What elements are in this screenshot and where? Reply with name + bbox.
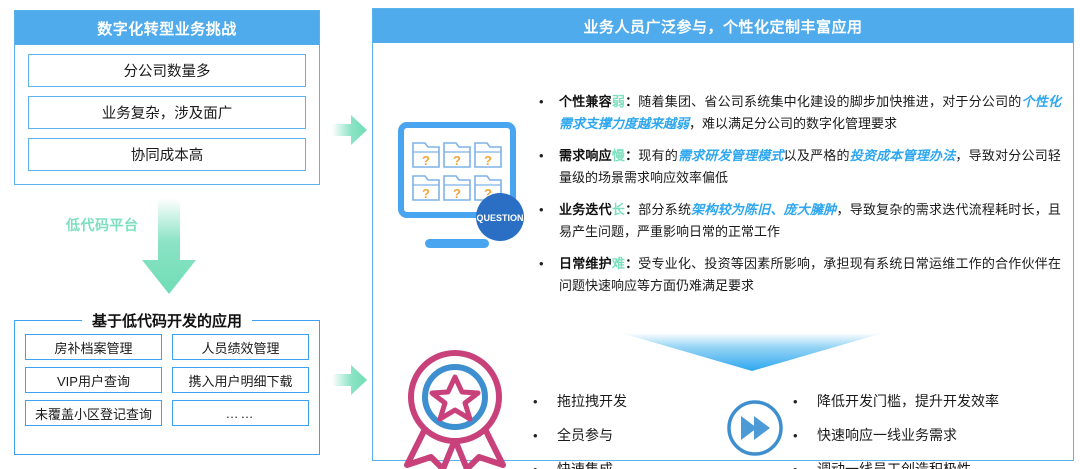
lowcode-platform-label: 低代码平台 bbox=[66, 215, 139, 235]
benefit-item: • 拖拉拽开发 bbox=[533, 391, 713, 411]
issue-emphasis-1: 需求研发管理模式 bbox=[678, 148, 784, 163]
monitor-question-icon: ??? ??? QUESTION bbox=[397, 121, 529, 271]
fast-forward-icon bbox=[725, 398, 785, 458]
svg-text:?: ? bbox=[453, 186, 461, 201]
issue-lead-highlight: 长 bbox=[612, 202, 625, 217]
issue-colon: ： bbox=[625, 256, 638, 271]
issue-lead: 个性兼容 bbox=[559, 94, 612, 109]
bullet-marker: • bbox=[533, 394, 557, 409]
benefit-item: • 调动一线员工创造积极性 bbox=[793, 459, 1063, 469]
left-column: 数字化转型业务挑战 分公司数量多 业务复杂，涉及面广 协同成本高 低代码平台 bbox=[0, 0, 368, 469]
issue-bullet: • 需求响应慢：现有的需求研发管理模式以及严格的投资成本管理办法，导致对分公司轻… bbox=[533, 145, 1061, 188]
apps-panel: 基于低代码开发的应用 房补档案管理 人员绩效管理 VIP用户查询 携入用户明细下… bbox=[14, 320, 320, 455]
chevron-down-icon bbox=[621, 331, 883, 373]
lowcode-platform-arrow-group: 低代码平台 bbox=[14, 196, 320, 301]
challenge-item[interactable]: 分公司数量多 bbox=[28, 54, 306, 87]
issue-emphasis-2: 投资成本管理办法 bbox=[850, 148, 956, 163]
issue-bullet-text: 业务迭代长：部分系统架构较为陈旧、庞大臃肿，导致复杂的需求迭代流程耗时长，且易产… bbox=[559, 199, 1061, 242]
question-badge-label: QUESTION bbox=[476, 213, 523, 223]
issue-bullet-text: 需求响应慢：现有的需求研发管理模式以及严格的投资成本管理办法，导致对分公司轻量级… bbox=[559, 145, 1061, 188]
benefit-label: 调动一线员工创造积极性 bbox=[817, 459, 971, 469]
challenge-item[interactable]: 业务复杂，涉及面广 bbox=[28, 96, 306, 129]
benefit-label: 快速集成 bbox=[557, 459, 613, 469]
issue-lead: 需求响应 bbox=[559, 148, 612, 163]
bullet-marker: • bbox=[533, 91, 559, 134]
issue-lead: 业务迭代 bbox=[559, 202, 612, 217]
arrow-down-icon bbox=[140, 198, 198, 296]
challenges-panel: 数字化转型业务挑战 分公司数量多 业务复杂，涉及面广 协同成本高 bbox=[14, 10, 320, 185]
bullet-marker: • bbox=[793, 462, 817, 469]
challenges-panel-title: 数字化转型业务挑战 bbox=[15, 11, 319, 45]
bullet-marker: • bbox=[793, 394, 817, 409]
issue-colon: ： bbox=[625, 94, 638, 109]
app-item[interactable]: …… bbox=[172, 400, 309, 426]
benefit-item: • 全员参与 bbox=[533, 425, 713, 445]
benefit-label: 拖拉拽开发 bbox=[557, 391, 627, 411]
benefit-item: • 快速集成 bbox=[533, 459, 713, 469]
issue-seg-1: 现有的 bbox=[638, 148, 678, 163]
bullet-marker: • bbox=[793, 428, 817, 443]
apps-grid: 房补档案管理 人员绩效管理 VIP用户查询 携入用户明细下载 未覆盖小区登记查询… bbox=[15, 321, 319, 426]
issue-seg-2: ，难以满足分公司的数字化管理要求 bbox=[689, 116, 897, 131]
app-item[interactable]: VIP用户查询 bbox=[25, 367, 162, 393]
arrow-right-icon bbox=[332, 362, 368, 398]
issue-bullet: • 业务迭代长：部分系统架构较为陈旧、庞大臃肿，导致复杂的需求迭代流程耗时长，且… bbox=[533, 199, 1061, 242]
bullet-marker: • bbox=[533, 145, 559, 188]
issue-seg-1: 部分系统 bbox=[638, 202, 691, 217]
benefit-label: 快速响应一线业务需求 bbox=[817, 425, 957, 445]
issue-lead-highlight: 难 bbox=[612, 256, 625, 271]
issue-lead: 日常维护 bbox=[559, 256, 612, 271]
challenge-item[interactable]: 协同成本高 bbox=[28, 138, 306, 171]
apps-panel-title: 基于低代码开发的应用 bbox=[82, 310, 252, 331]
issue-seg-2: 以及严格的 bbox=[784, 148, 850, 163]
svg-text:?: ? bbox=[453, 153, 461, 168]
benefit-item: • 快速响应一线业务需求 bbox=[793, 425, 1063, 445]
svg-text:?: ? bbox=[422, 186, 430, 201]
issue-bullet-text: 日常维护难：受专业化、投资等因素所影响，承担现有系统日常运维工作的合作伙伴在问题… bbox=[559, 253, 1061, 296]
bullet-marker: • bbox=[533, 199, 559, 242]
app-item[interactable]: 人员绩效管理 bbox=[172, 334, 309, 360]
issue-seg-1: 随着集团、省公司系统集中化建设的脚步加快推进，对于分公司的 bbox=[638, 94, 1021, 109]
issue-bullet-text: 个性兼容弱：随着集团、省公司系统集中化建设的脚步加快推进，对于分公司的个性化需求… bbox=[559, 91, 1061, 134]
benefits-right-list: • 降低开发门槛，提升开发效率 • 快速响应一线业务需求 • 调动一线员工创造积… bbox=[793, 391, 1063, 469]
issues-bullet-list: • 个性兼容弱：随着集团、省公司系统集中化建设的脚步加快推进，对于分公司的个性化… bbox=[533, 91, 1061, 307]
issue-bullet: • 日常维护难：受专业化、投资等因素所影响，承担现有系统日常运维工作的合作伙伴在… bbox=[533, 253, 1061, 296]
svg-text:?: ? bbox=[484, 153, 492, 168]
benefit-label: 全员参与 bbox=[557, 425, 613, 445]
benefit-item: • 降低开发门槛，提升开发效率 bbox=[793, 391, 1063, 411]
app-item[interactable]: 房补档案管理 bbox=[25, 334, 162, 360]
svg-text:?: ? bbox=[422, 153, 430, 168]
benefit-label: 降低开发门槛，提升开发效率 bbox=[817, 391, 999, 411]
challenges-list: 分公司数量多 业务复杂，涉及面广 协同成本高 bbox=[15, 45, 319, 171]
right-panel: 业务人员广泛参与，个性化定制丰富应用 bbox=[372, 8, 1074, 461]
issue-emphasis-1: 架构较为陈旧、庞大臃肿 bbox=[691, 202, 836, 217]
award-medal-icon bbox=[391, 343, 519, 469]
right-panel-title: 业务人员广泛参与，个性化定制丰富应用 bbox=[373, 9, 1073, 43]
issue-lead-highlight: 慢 bbox=[612, 148, 625, 163]
bullet-marker: • bbox=[533, 253, 559, 296]
bullet-marker: • bbox=[533, 428, 557, 443]
arrow-right-icon bbox=[332, 112, 368, 148]
issue-lead-highlight: 弱 bbox=[612, 94, 625, 109]
issue-colon: ： bbox=[625, 202, 638, 217]
slide-root: 数字化转型业务挑战 分公司数量多 业务复杂，涉及面广 协同成本高 低代码平台 bbox=[0, 0, 1080, 469]
issue-colon: ： bbox=[625, 148, 638, 163]
right-panel-body: ??? ??? QUESTION • 个性兼容弱：随着集团、省公司系统集中化建设… bbox=[373, 43, 1073, 460]
benefits-left-list: • 拖拉拽开发 • 全员参与 • 快速集成 bbox=[533, 391, 713, 469]
bullet-marker: • bbox=[533, 462, 557, 469]
app-item[interactable]: 未覆盖小区登记查询 bbox=[25, 400, 162, 426]
issue-bullet: • 个性兼容弱：随着集团、省公司系统集中化建设的脚步加快推进，对于分公司的个性化… bbox=[533, 91, 1061, 134]
app-item[interactable]: 携入用户明细下载 bbox=[172, 367, 309, 393]
